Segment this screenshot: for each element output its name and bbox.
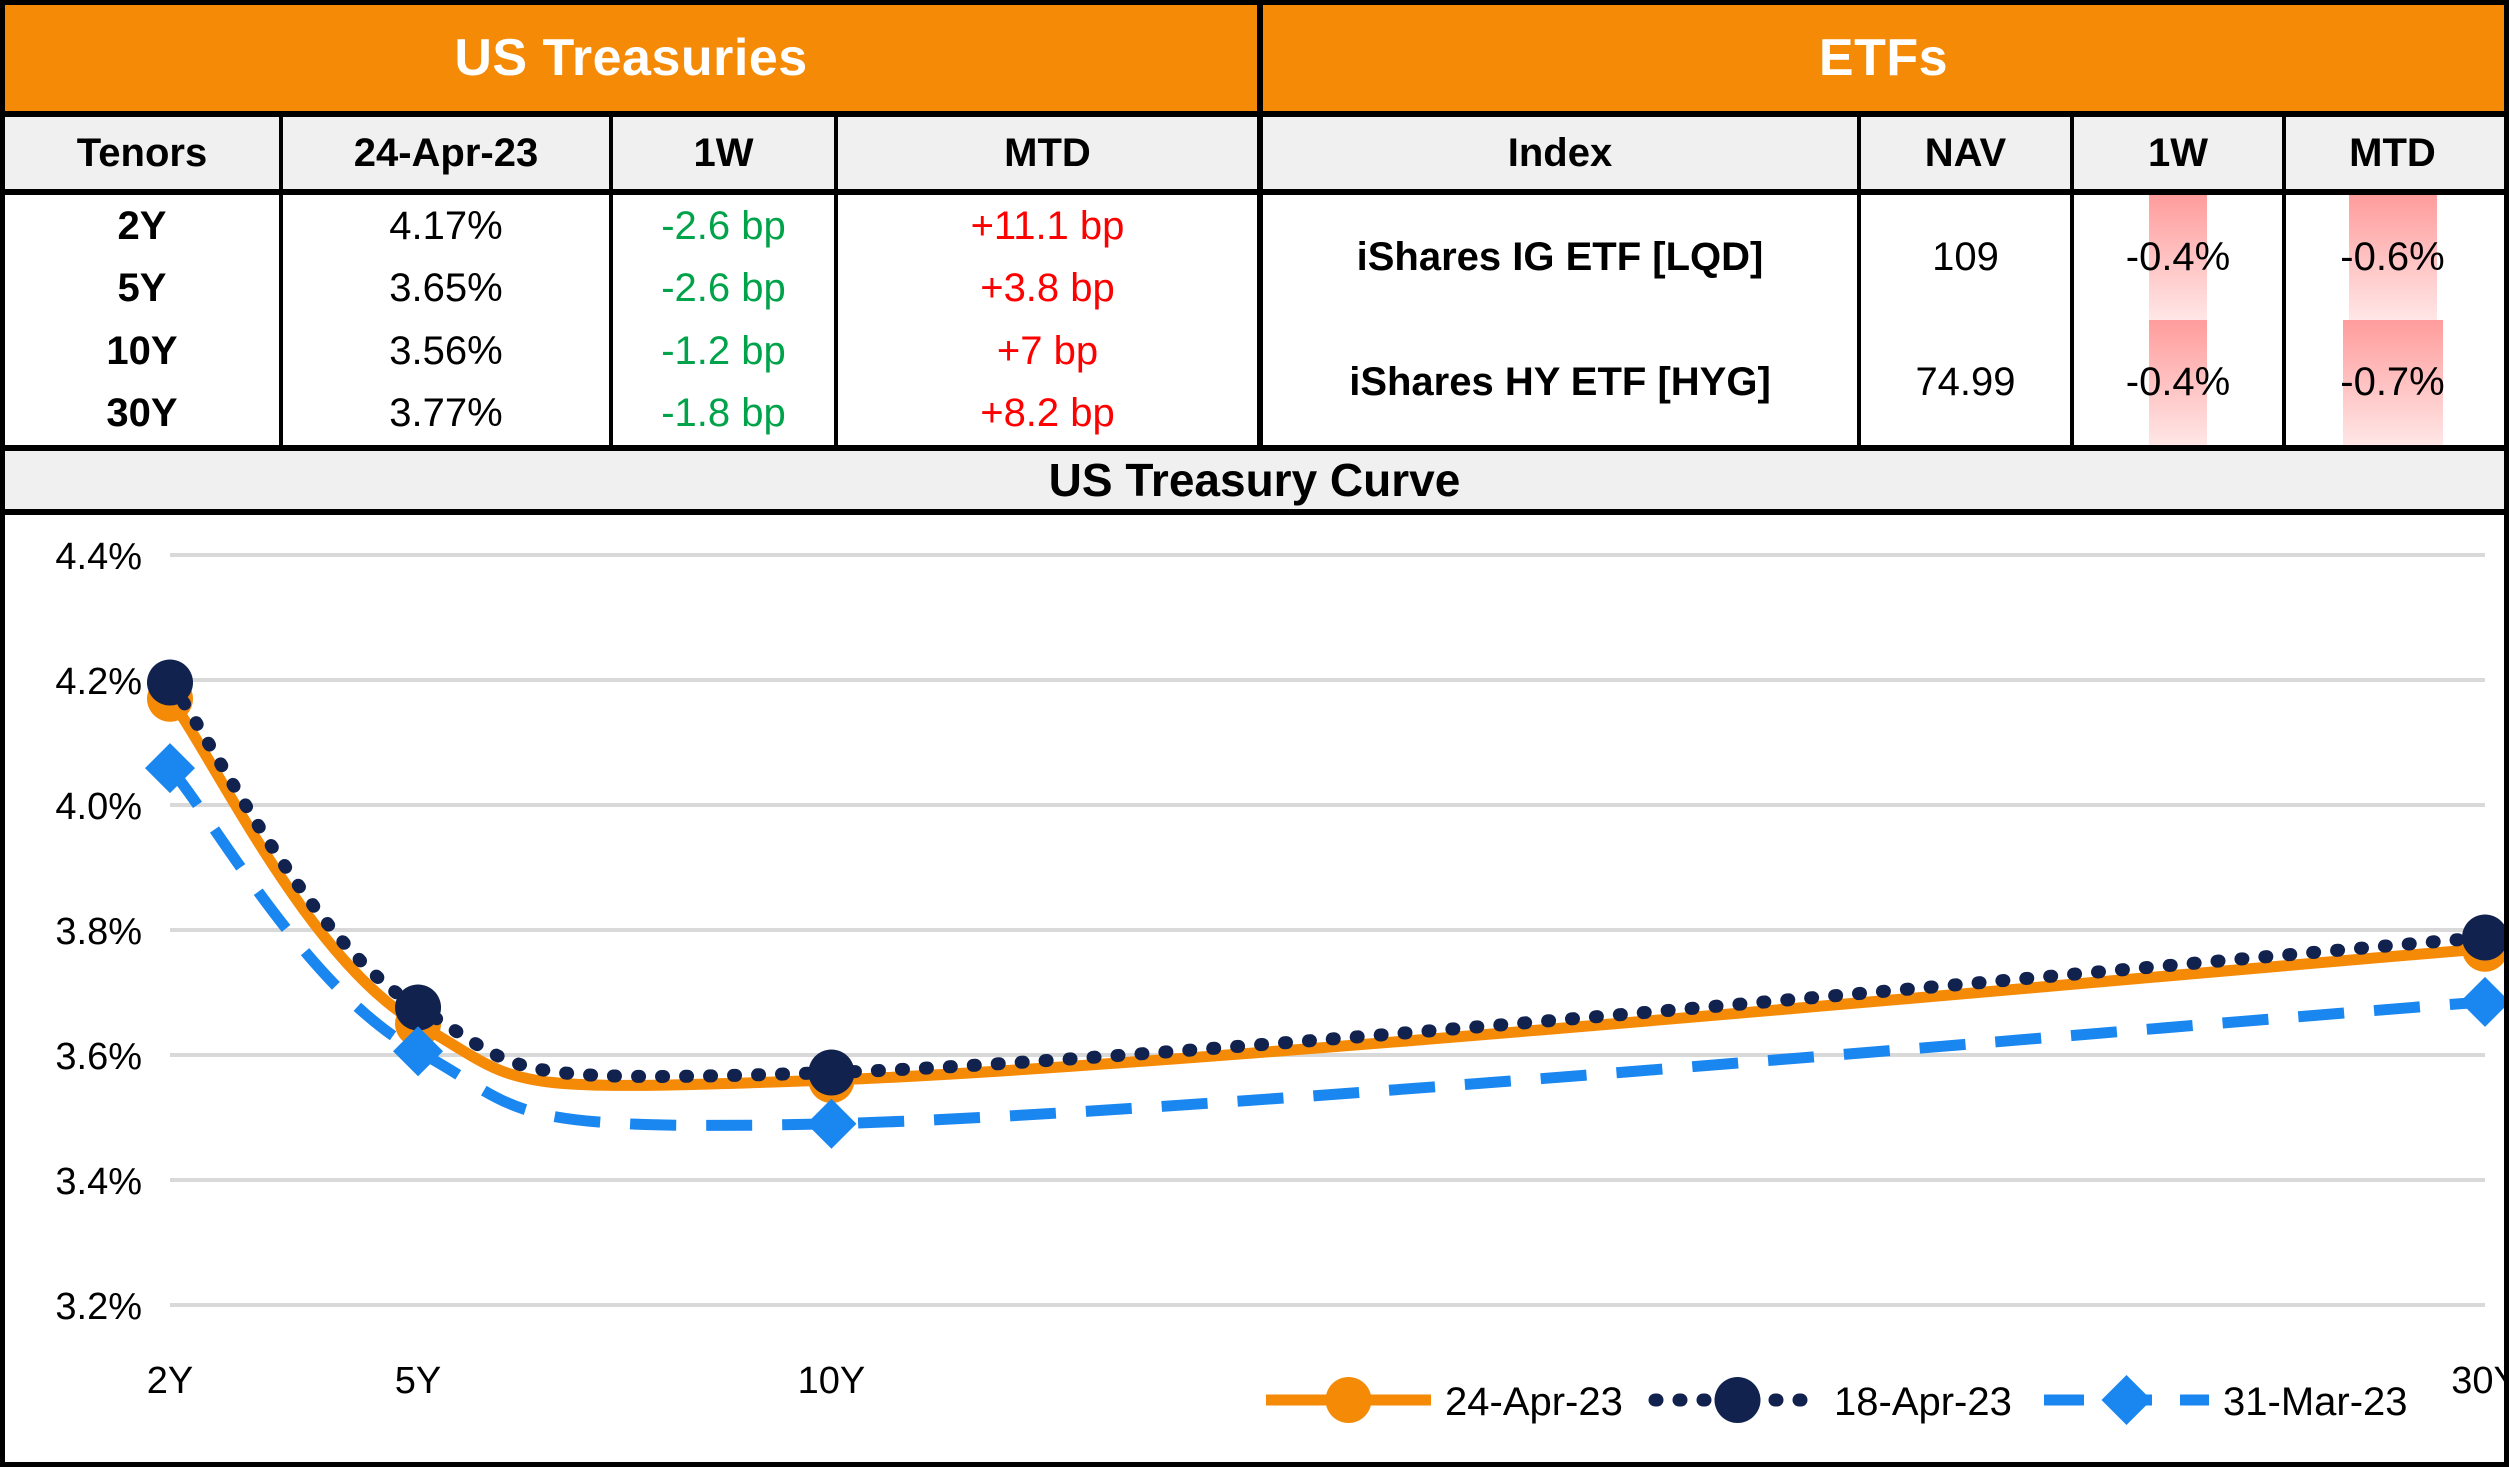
data-point — [147, 660, 193, 706]
y-tick-label: 4.2% — [55, 661, 142, 703]
y-tick-label: 3.8% — [55, 911, 142, 953]
legend-marker — [2102, 1375, 2152, 1425]
cell-level: 3.56% — [283, 320, 613, 383]
header-etf-mtd[interactable]: MTD — [2286, 117, 2499, 189]
cell-1w: -2.6 bp — [613, 258, 838, 321]
chart-svg: 3.2%3.4%3.6%3.8%4.0%4.2%4.4% 2Y5Y10Y30Y … — [5, 515, 2504, 1456]
table-row: iShares HY ETF [HYG] 74.99 -0.4% -0.7% — [1263, 320, 2504, 445]
tables-container: US Treasuries Tenors 24-Apr-23 1W MTD 2Y… — [5, 5, 2504, 445]
cell-tenor: 30Y — [5, 383, 283, 446]
chart-gridlines — [170, 555, 2485, 1305]
x-tick-label: 5Y — [395, 1360, 441, 1402]
table-row: 10Y 3.56% -1.2 bp +7 bp — [5, 320, 1257, 383]
cell-mtd: +3.8 bp — [838, 258, 1257, 321]
cell-1w: -1.2 bp — [613, 320, 838, 383]
cell-1w: -2.6 bp — [613, 195, 838, 258]
legend-label[interactable]: 24-Apr-23 — [1445, 1380, 1623, 1424]
cell-etf-1w: -0.4% — [2074, 195, 2286, 320]
y-tick-label: 4.4% — [55, 536, 142, 578]
table-row: 2Y 4.17% -2.6 bp +11.1 bp — [5, 195, 1257, 258]
cell-nav: 109 — [1861, 195, 2074, 320]
header-index[interactable]: Index — [1263, 117, 1861, 189]
us-treasuries-header-row: Tenors 24-Apr-23 1W MTD — [5, 117, 1257, 195]
legend-marker — [1715, 1377, 1761, 1423]
cell-etf-1w-value: -0.4% — [2126, 235, 2231, 280]
table-row: 5Y 3.65% -2.6 bp +3.8 bp — [5, 258, 1257, 321]
header-tenors[interactable]: Tenors — [5, 117, 283, 189]
series-line — [170, 699, 2485, 1086]
chart-legend: 24-Apr-2318-Apr-2331-Mar-23 — [1266, 1375, 2408, 1425]
chart-y-axis-labels: 3.2%3.4%3.6%3.8%4.0%4.2%4.4% — [55, 536, 142, 1328]
cell-etf-mtd: -0.6% — [2286, 195, 2499, 320]
data-point — [2460, 977, 2504, 1027]
y-tick-label: 3.6% — [55, 1036, 142, 1078]
cell-mtd: +11.1 bp — [838, 195, 1257, 258]
legend-marker — [1326, 1377, 1372, 1423]
y-tick-label: 3.4% — [55, 1161, 142, 1203]
etfs-body: iShares IG ETF [LQD] 109 -0.4% -0.6% iSh… — [1263, 195, 2504, 445]
cell-mtd: +8.2 bp — [838, 383, 1257, 446]
etfs-table: ETFs Index NAV 1W MTD iShares IG ETF [LQ… — [1263, 5, 2504, 445]
cell-etf-mtd-value: -0.6% — [2340, 235, 2445, 280]
series-line — [170, 683, 2485, 1077]
cell-etf-1w-value: -0.4% — [2126, 360, 2231, 405]
us-treasuries-title: US Treasuries — [5, 5, 1257, 117]
chart-title: US Treasury Curve — [5, 445, 2504, 515]
header-mtd[interactable]: MTD — [838, 117, 1257, 189]
y-tick-label: 3.2% — [55, 1286, 142, 1328]
legend-label[interactable]: 18-Apr-23 — [1834, 1380, 2012, 1424]
cell-nav: 74.99 — [1861, 320, 2074, 445]
cell-1w: -1.8 bp — [613, 383, 838, 446]
table-row: iShares IG ETF [LQD] 109 -0.4% -0.6% — [1263, 195, 2504, 320]
dashboard-root: US Treasuries Tenors 24-Apr-23 1W MTD 2Y… — [0, 0, 2509, 1467]
us-treasury-curve-chart: 3.2%3.4%3.6%3.8%4.0%4.2%4.4% 2Y5Y10Y30Y … — [5, 515, 2504, 1456]
chart-series-24-Apr-23 — [147, 676, 2504, 1103]
cell-mtd: +7 bp — [838, 320, 1257, 383]
header-level-date[interactable]: 24-Apr-23 — [283, 117, 613, 189]
cell-etf-mtd-value: -0.7% — [2340, 360, 2445, 405]
header-nav[interactable]: NAV — [1861, 117, 2074, 189]
legend-label[interactable]: 31-Mar-23 — [2223, 1380, 2408, 1424]
cell-level: 3.65% — [283, 258, 613, 321]
etfs-header-row: Index NAV 1W MTD — [1263, 117, 2504, 195]
us-treasuries-table: US Treasuries Tenors 24-Apr-23 1W MTD 2Y… — [5, 5, 1263, 445]
header-1w[interactable]: 1W — [613, 117, 838, 189]
x-tick-label: 2Y — [147, 1360, 193, 1402]
chart-series-group — [145, 660, 2504, 1149]
data-point — [808, 1050, 854, 1096]
cell-etf-mtd: -0.7% — [2286, 320, 2499, 445]
cell-level: 4.17% — [283, 195, 613, 258]
y-tick-label: 4.0% — [55, 786, 142, 828]
us-treasuries-body: 2Y 4.17% -2.6 bp +11.1 bp 5Y 3.65% -2.6 … — [5, 195, 1257, 445]
cell-level: 3.77% — [283, 383, 613, 446]
cell-etf-1w: -0.4% — [2074, 320, 2286, 445]
x-tick-label: 10Y — [798, 1360, 866, 1402]
header-etf-1w[interactable]: 1W — [2074, 117, 2286, 189]
table-row: 30Y 3.77% -1.8 bp +8.2 bp — [5, 383, 1257, 446]
cell-index-name: iShares HY ETF [HYG] — [1263, 320, 1861, 445]
cell-tenor: 2Y — [5, 195, 283, 258]
etfs-title: ETFs — [1263, 5, 2504, 117]
x-tick-label: 30Y — [2451, 1360, 2504, 1402]
cell-index-name: iShares IG ETF [LQD] — [1263, 195, 1861, 320]
data-point — [395, 985, 441, 1031]
data-point — [806, 1099, 856, 1149]
cell-tenor: 10Y — [5, 320, 283, 383]
cell-tenor: 5Y — [5, 258, 283, 321]
